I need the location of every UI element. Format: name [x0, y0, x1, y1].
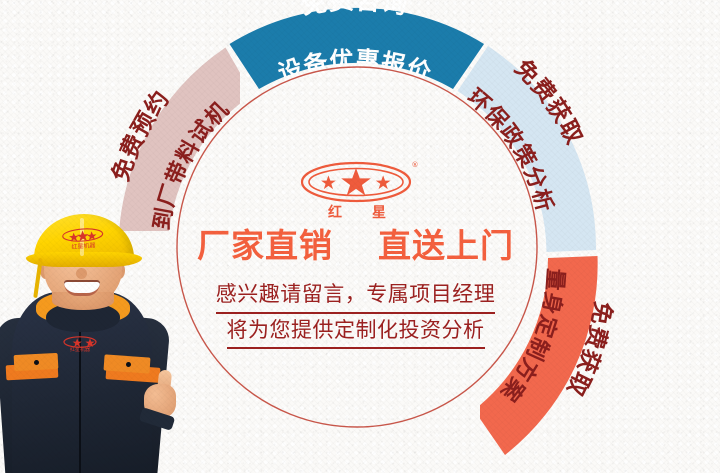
worker-pocket-button-right — [126, 362, 131, 367]
subline-2: 将为您提供定制化投资分析 — [183, 314, 528, 350]
headline-left: 厂家直销 — [197, 226, 333, 265]
worker-chest-logo-text: 红星机器 — [70, 346, 90, 352]
center-content: ® 红 星 厂家直销 直送上门 感兴趣请留言，专属项目经理 将为您提供定制化投资… — [183, 160, 528, 349]
subline-1: 感兴趣请留言，专属项目经理 — [183, 278, 528, 314]
worker-helmet-logo-text: 红星机器 — [71, 241, 96, 251]
worker-helmet-brim — [26, 252, 142, 267]
hongxing-logo: ® 红 星 — [291, 160, 421, 222]
logo-stars — [321, 168, 390, 196]
promo-banner: 免费预约 到厂带料试机 免费咨询 设备优惠报价 免费获取 — [0, 0, 720, 473]
worker-nose — [76, 268, 87, 279]
worker-photo: 红星机器 红星机器 — [0, 214, 190, 473]
logo-brand-char-left: 红 — [328, 204, 342, 221]
worker-helmet-logo-svg: 红星机器 — [53, 226, 112, 252]
logo-brand-char-right: 星 — [372, 205, 386, 221]
worker-pocket-button-left — [34, 360, 39, 365]
registered-mark: ® — [411, 161, 418, 169]
headline-right: 直送上门 — [378, 226, 514, 265]
subline-2-text: 将为您提供定制化投资分析 — [227, 314, 485, 350]
headline: 厂家直销 直送上门 — [183, 228, 528, 264]
subline-1-text: 感兴趣请留言，专属项目经理 — [216, 278, 496, 314]
worker-chest-logo: 红星机器 — [58, 336, 102, 352]
worker-chest-logo-svg: 红星机器 — [58, 336, 102, 352]
hongxing-logo-svg: ® 红 星 — [291, 160, 421, 222]
worker-helmet-logo: 红星机器 — [53, 226, 112, 252]
worker-thumbs-up-hand — [142, 370, 178, 418]
